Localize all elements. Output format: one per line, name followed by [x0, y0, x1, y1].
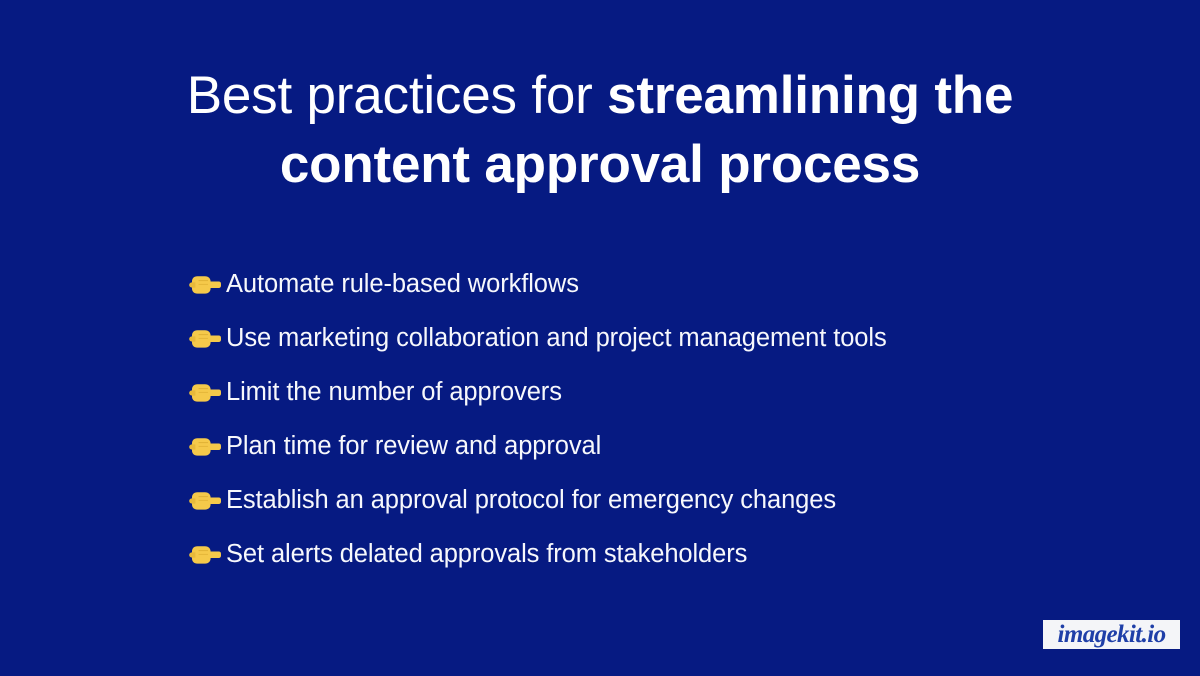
slide-canvas: Best practices for streamlining the cont…: [0, 0, 1200, 676]
pointing-right-hand-icon: [188, 272, 222, 298]
page-title-light-part: Best practices for: [187, 66, 607, 125]
list-item: Limit the number of approvers: [188, 366, 1088, 420]
pointing-right-hand-icon: [188, 542, 222, 568]
imagekit-logo-text: imagekit.io: [1058, 622, 1166, 647]
page-title: Best practices for streamlining the cont…: [110, 62, 1090, 200]
best-practices-list: Automate rule-based workflows Use market…: [188, 258, 1088, 582]
list-item-label: Use marketing collaboration and project …: [226, 326, 887, 352]
list-item-label: Plan time for review and approval: [226, 434, 601, 460]
pointing-right-hand-icon: [188, 434, 222, 460]
imagekit-logo-badge: imagekit.io: [1043, 620, 1180, 649]
pointing-right-hand-icon: [188, 488, 222, 514]
list-item: Set alerts delated approvals from stakeh…: [188, 528, 1088, 582]
list-item: Automate rule-based workflows: [188, 258, 1088, 312]
list-item: Establish an approval protocol for emerg…: [188, 474, 1088, 528]
list-item: Plan time for review and approval: [188, 420, 1088, 474]
list-item-label: Limit the number of approvers: [226, 380, 562, 406]
pointing-right-hand-icon: [188, 326, 222, 352]
pointing-right-hand-icon: [188, 380, 222, 406]
list-item-label: Set alerts delated approvals from stakeh…: [226, 542, 747, 568]
list-item-label: Establish an approval protocol for emerg…: [226, 488, 836, 514]
list-item: Use marketing collaboration and project …: [188, 312, 1088, 366]
list-item-label: Automate rule-based workflows: [226, 272, 579, 298]
